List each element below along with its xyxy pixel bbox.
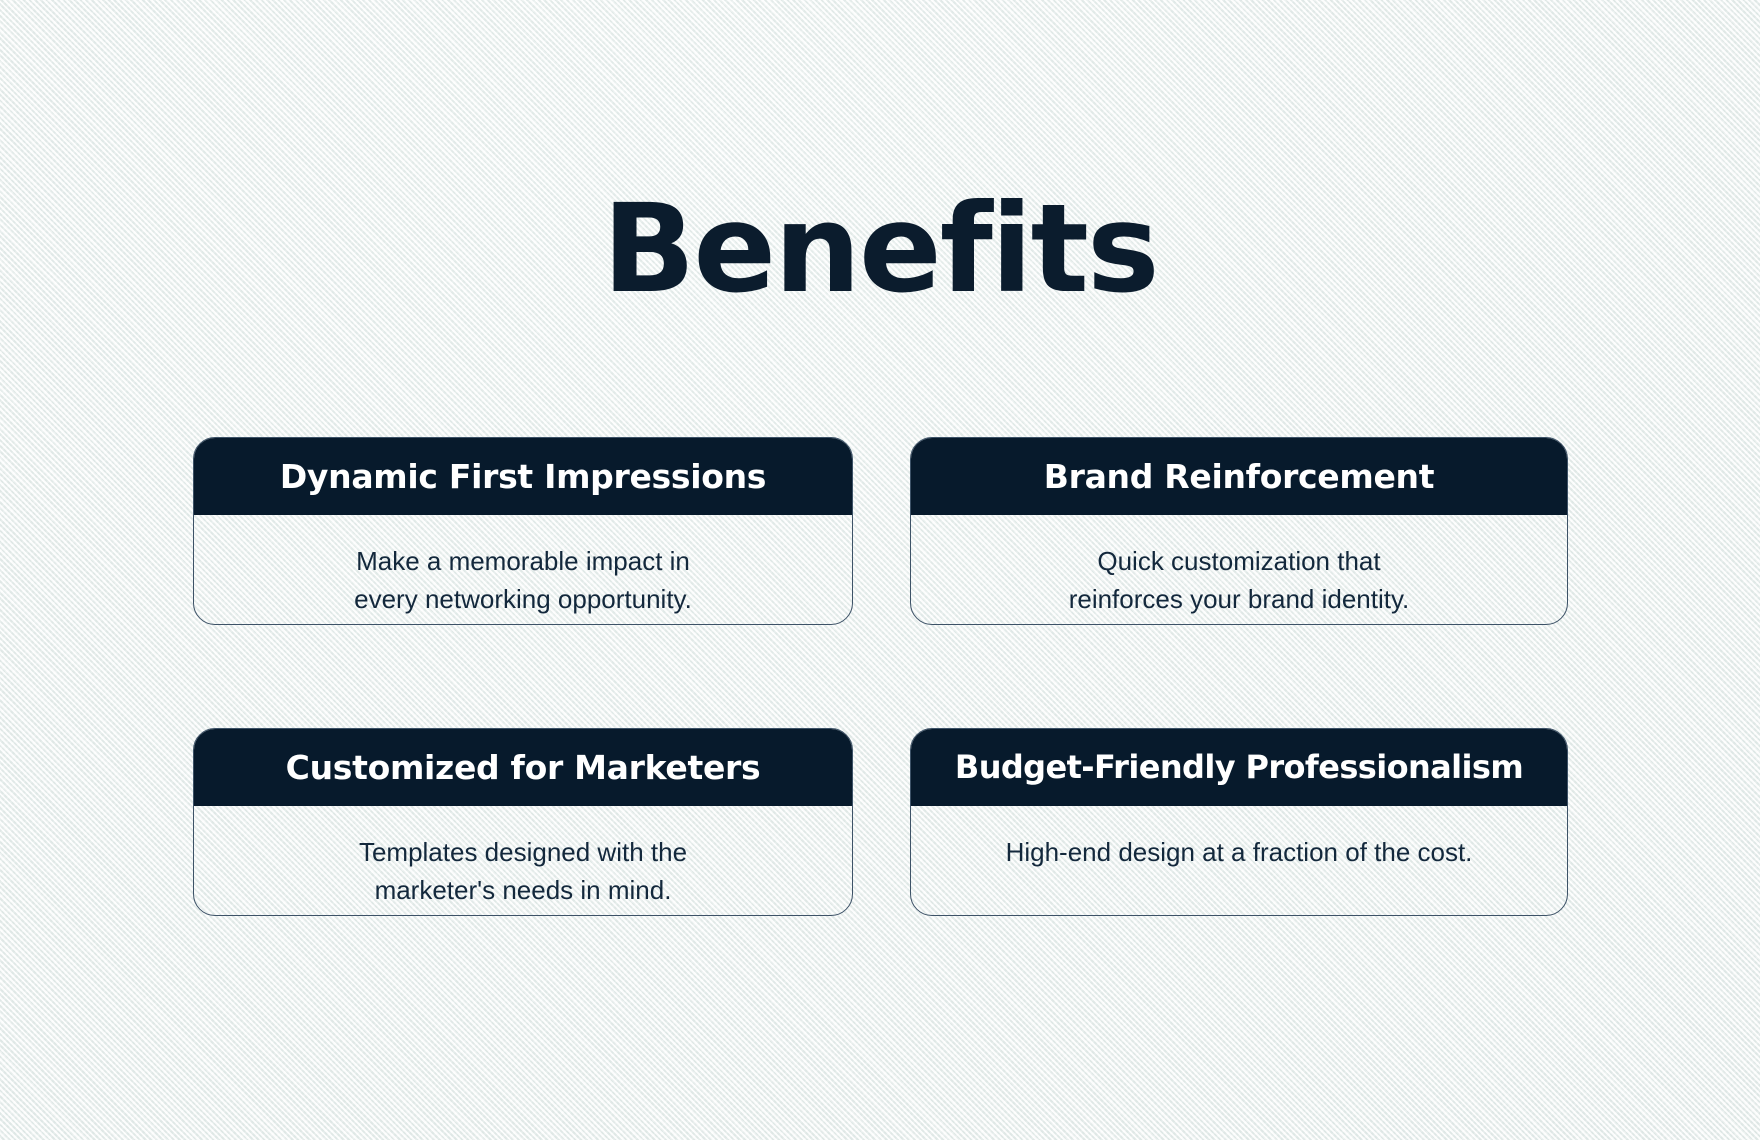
benefit-card-header: Brand Reinforcement: [910, 437, 1568, 515]
benefit-card-body: Templates designed with the marketer's n…: [194, 806, 852, 914]
benefit-card-body: High-end design at a fraction of the cos…: [911, 806, 1567, 914]
benefit-card-body-text: Make a memorable impact in ever­y networ…: [354, 543, 692, 618]
benefit-card[interactable]: Customized for Marketers Templates desig…: [193, 728, 853, 916]
benefit-card[interactable]: Brand Reinforcement Quick customization …: [910, 437, 1568, 625]
benefit-card[interactable]: Dynamic First Impressions Make a memorab…: [193, 437, 853, 625]
benefit-card-body-text: High-end design at a fraction of the cos…: [1006, 834, 1473, 872]
benefit-card-body: Make a memorable impact in ever­y networ…: [194, 515, 852, 623]
benefit-card-header: Dynamic First Impressions: [193, 437, 853, 515]
page-title: Benefits: [0, 188, 1760, 310]
benefit-card[interactable]: Budget-Friendly Professionalism High-end…: [910, 728, 1568, 916]
slide-content: Benefits Dynamic First Impressions Make …: [0, 0, 1760, 1140]
benefit-card-header: Budget-Friendly Professionalism: [910, 728, 1568, 806]
benefit-card-header: Customized for Marketers: [193, 728, 853, 806]
benefit-card-body-text: Quick customization that reinforces your…: [1069, 543, 1410, 618]
benefit-card-body: Quick customization that reinforces your…: [911, 515, 1567, 623]
benefit-card-body-text: Templates designed with the marketer's n…: [359, 834, 687, 909]
